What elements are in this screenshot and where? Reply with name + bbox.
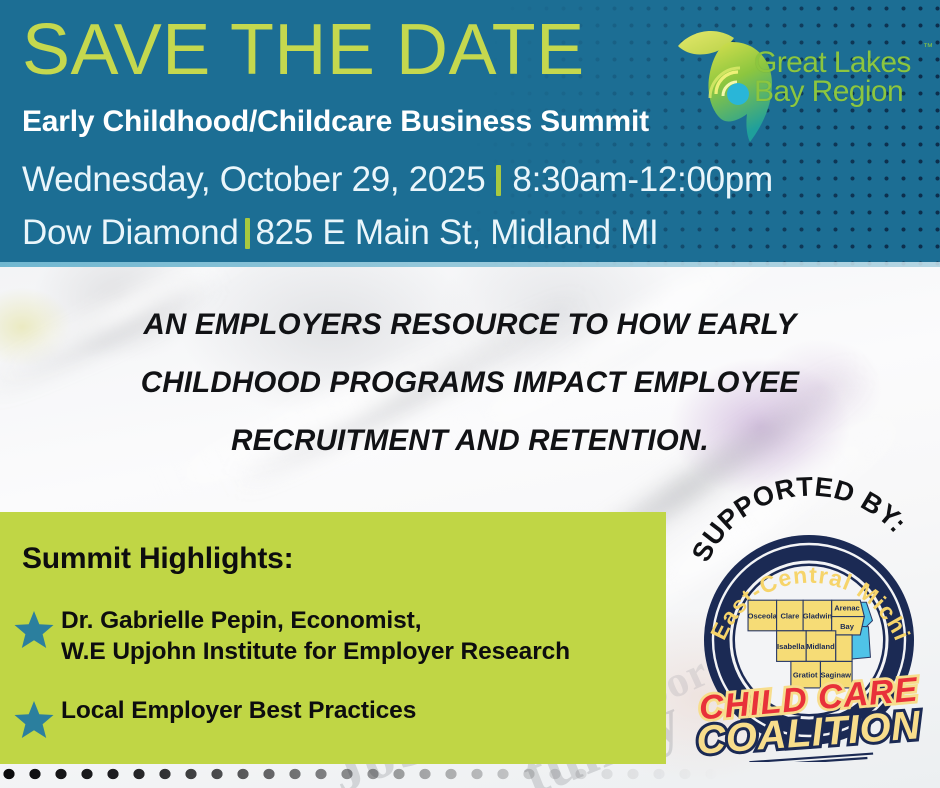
event-location-line: Dow Diamond825 E Main St, Midland MI: [22, 213, 658, 253]
great-lakes-bay-region-logo: Great Lakes Bay Region ™: [676, 22, 934, 147]
star-icon: [14, 700, 54, 740]
tagline-line-3: RECRUITMENT AND RETENTION.: [60, 412, 880, 470]
county-label: Osceola: [748, 612, 778, 621]
logo-wordmark: Great Lakes Bay Region: [754, 48, 934, 106]
header-band: SAVE THE DATE Early Childhood/Childcare …: [0, 0, 940, 267]
list-item-line-1: Local Employer Best Practices: [61, 697, 416, 724]
seal-graphic: SUPPORTED BY: East-Central Michigan: [676, 472, 940, 762]
tagline-line-2: CHILDHOOD PROGRAMS IMPACT EMPLOYEE: [60, 354, 880, 412]
event-subtitle: Early Childhood/Childcare Business Summi…: [22, 105, 649, 139]
halftone-dots-footer: [0, 764, 720, 788]
county-label: Midland: [806, 642, 835, 651]
tagline-line-1: AN EMPLOYERS RESOURCE TO HOW EARLY: [60, 296, 880, 354]
summit-highlights-panel: Summit Highlights: Dr. Gabrielle Pepin, …: [0, 512, 666, 764]
list-item-line-1: Dr. Gabrielle Pepin, Economist,: [61, 607, 421, 634]
county-label: Gratiot: [793, 671, 818, 680]
child-care-coalition-seal: SUPPORTED BY: East-Central Michigan: [676, 472, 940, 762]
highlights-title: Summit Highlights:: [22, 542, 293, 576]
event-time: 8:30am-12:00pm: [512, 160, 772, 199]
list-item-line-2: W.E Upjohn Institute for Employer Resear…: [61, 638, 570, 665]
tagline-block: AN EMPLOYERS RESOURCE TO HOW EARLY CHILD…: [60, 296, 880, 470]
county-label: Bay: [840, 622, 855, 631]
county-label: Isabella: [777, 642, 805, 651]
county-label: Arenac: [834, 603, 860, 612]
event-datetime-line: Wednesday, October 29, 20258:30am-12:00p…: [22, 160, 773, 200]
event-date: Wednesday, October 29, 2025: [22, 160, 485, 199]
venue-address: 825 E Main St, Midland MI: [256, 213, 659, 252]
venue-name: Dow Diamond: [22, 213, 239, 252]
separator-icon: [245, 218, 250, 249]
list-item-text: Dr. Gabrielle Pepin, Economist, W.E Upjo…: [61, 605, 570, 667]
logo-line-2: Bay Region: [754, 75, 903, 108]
separator-icon: [496, 165, 501, 196]
list-item-text: Local Employer Best Practices: [61, 695, 416, 726]
county-label: Gladwin: [803, 612, 833, 621]
county-label: Clare: [780, 612, 799, 621]
poster-canvas: por Job tunity SAVE THE DATE Early Child…: [0, 0, 940, 788]
trademark-icon: ™: [923, 42, 933, 53]
page-title: SAVE THE DATE: [22, 13, 585, 87]
header-bottom-rule: [0, 262, 940, 267]
star-icon: [14, 610, 54, 650]
